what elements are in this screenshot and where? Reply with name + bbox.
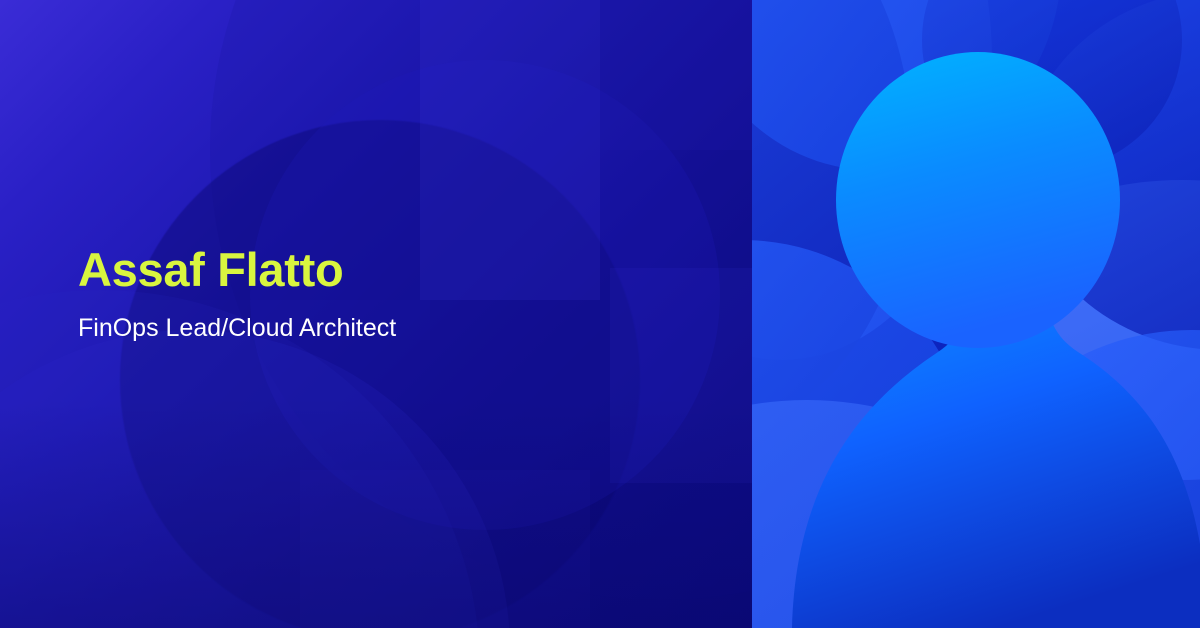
- right-avatar-panel: [752, 0, 1200, 628]
- profile-text-block: Assaf Flatto FinOps Lead/Cloud Architect: [78, 242, 396, 344]
- background-pane-1: [420, 0, 600, 300]
- background-pane-2: [600, 0, 752, 150]
- profile-role-subtitle: FinOps Lead/Cloud Architect: [78, 312, 396, 344]
- profile-banner-card: Assaf Flatto FinOps Lead/Cloud Architect: [0, 0, 1200, 628]
- background-bottom-shade: [0, 398, 752, 628]
- person-silhouette-avatar-icon: [752, 0, 1200, 628]
- page-title: Assaf Flatto: [78, 242, 396, 298]
